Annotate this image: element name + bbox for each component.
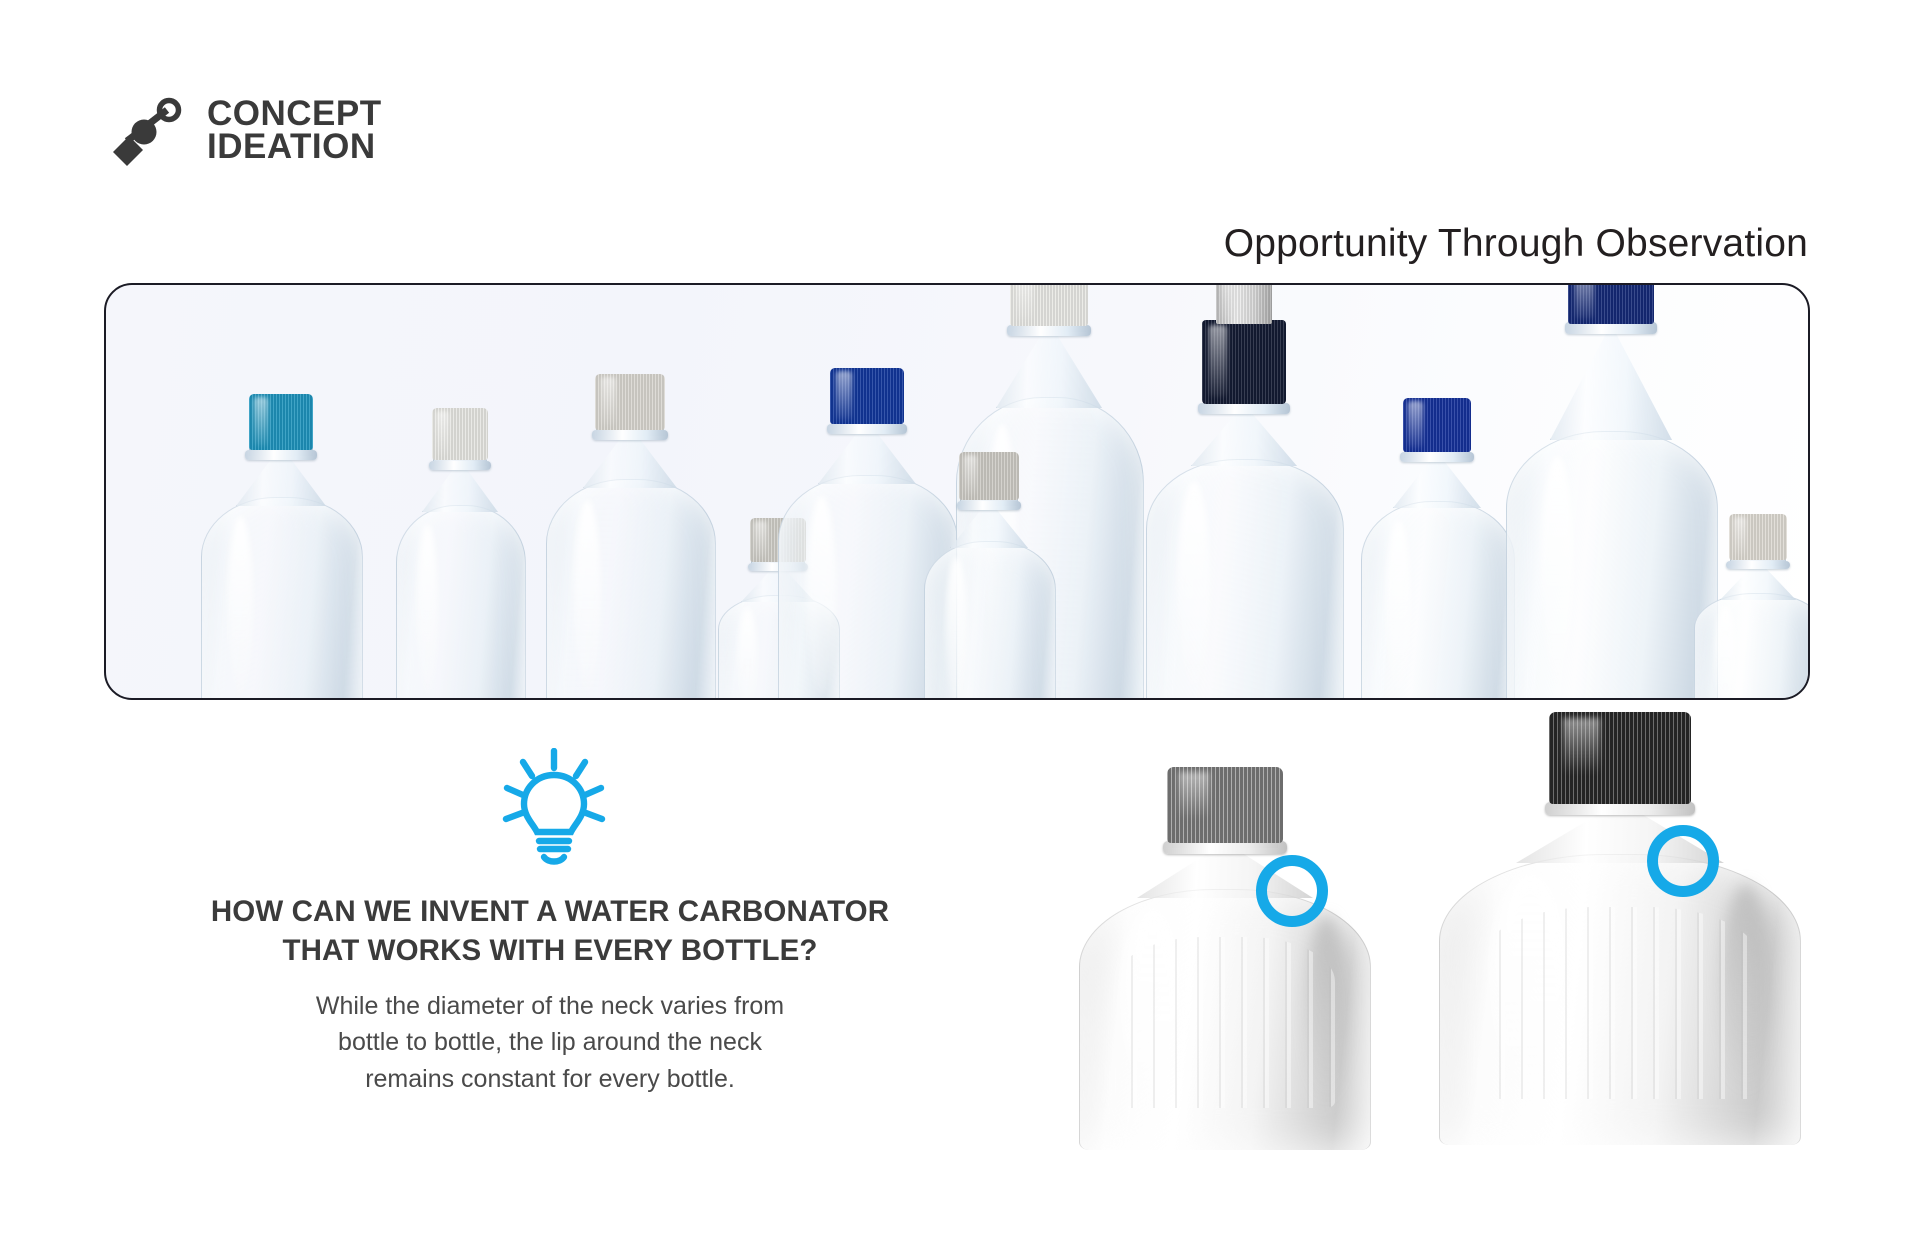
headline-line-2: THAT WORKS WITH EVERY BOTTLE? — [150, 932, 950, 971]
lightbulb-icon — [500, 748, 608, 866]
headline: HOW CAN WE INVENT A WATER CARBONATOR THA… — [150, 893, 950, 971]
bottle-1-teal-cap — [201, 398, 361, 700]
section-title: Opportunity Through Observation — [1224, 222, 1808, 266]
body-line-2: bottle to bottle, the lip around the nec… — [180, 1024, 920, 1060]
bottle-2-frosted-cap — [396, 408, 524, 700]
detail-bottle-cap — [1549, 712, 1691, 804]
detail-bottle-body — [1079, 889, 1371, 1150]
bottle-neck-detail-gray-cap — [1060, 770, 1390, 1150]
detail-bottle-cap — [1167, 767, 1283, 843]
headline-line-1: HOW CAN WE INVENT A WATER CARBONATOR — [150, 893, 950, 932]
bottle-neck-detail-black-cap — [1420, 745, 1820, 1145]
concept-ideation-mark-icon — [103, 96, 189, 166]
bottle-lineup-banner — [104, 283, 1810, 700]
bottle-9-blue-cap — [1361, 398, 1513, 700]
bottle-8-navy-sport-cap — [1146, 318, 1342, 700]
bottle-7-mid-gray-cap — [924, 458, 1054, 700]
bottle-11-beige-cap — [1694, 528, 1810, 700]
brand-logo: CONCEPT IDEATION — [103, 96, 382, 166]
body-line-1: While the diameter of the neck varies fr… — [180, 988, 920, 1024]
bottle-3-gray-cap — [546, 376, 714, 700]
bottle-10-dark-blue-cap — [1506, 283, 1716, 700]
detail-bottle-body — [1439, 854, 1801, 1145]
body-copy: While the diameter of the neck varies fr… — [180, 988, 920, 1097]
body-line-3: remains constant for every bottle. — [180, 1061, 920, 1097]
logo-wordmark: CONCEPT IDEATION — [207, 98, 382, 163]
neck-lip-highlight-ring — [1256, 855, 1328, 927]
logo-line-2: IDEATION — [207, 131, 382, 164]
banner-photo-content — [106, 285, 1808, 698]
neck-lip-highlight-ring — [1647, 825, 1719, 897]
